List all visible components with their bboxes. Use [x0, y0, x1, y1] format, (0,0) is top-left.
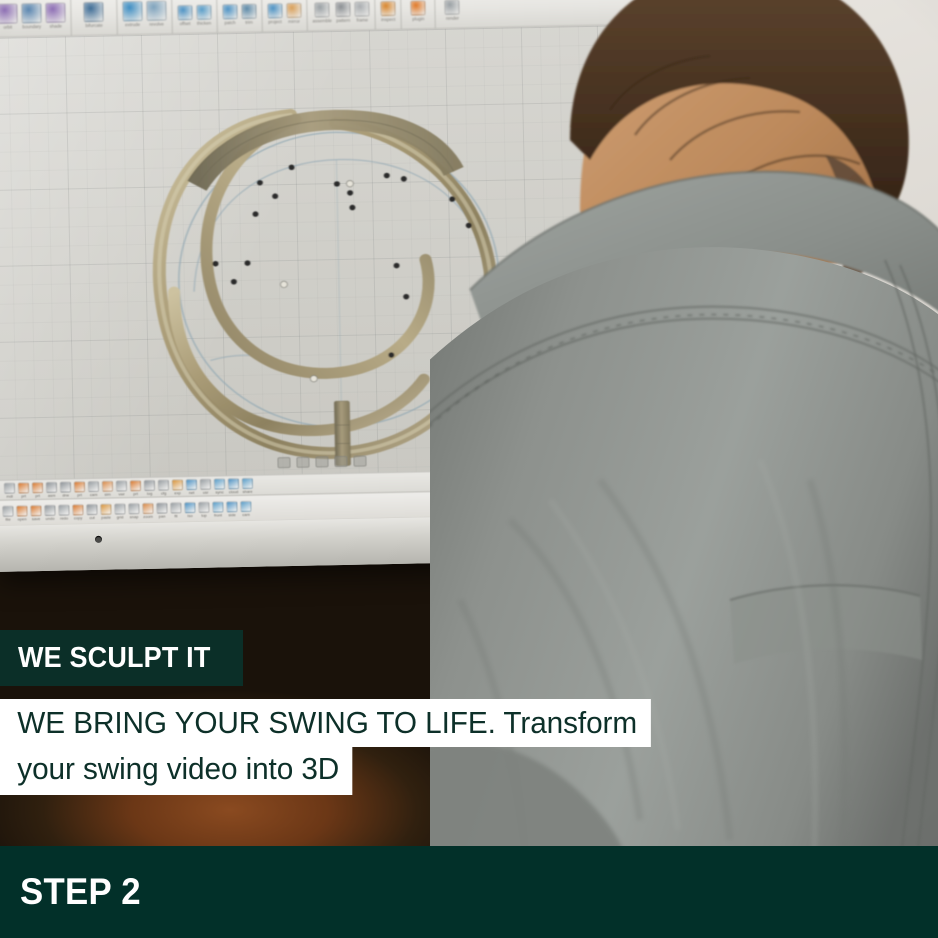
taskbar-item[interactable]: cloud — [228, 478, 239, 494]
person-at-workstation — [430, 0, 938, 938]
ribbon-button-label: bifurcate — [85, 23, 102, 28]
taskbar-item-label: prt — [133, 491, 138, 496]
doc-orange-icon — [74, 481, 85, 492]
ribbon-button-assemble[interactable]: assemble — [312, 2, 332, 23]
taskbar-item[interactable]: drw — [60, 481, 71, 497]
promo-screenshot: VIEWorbitboundaryshadeSUB ENGINEbifurcat… — [0, 0, 938, 938]
photo-scene: VIEWorbitboundaryshadeSUB ENGINEbifurcat… — [0, 0, 938, 938]
taskbar-item-label: file — [5, 516, 10, 521]
doc-icon — [128, 503, 139, 514]
plugin-icon — [411, 0, 426, 15]
taskbar-item-label: cloud — [229, 489, 239, 494]
doc-orange-icon — [16, 505, 27, 516]
taskbar-item-label: mdl — [6, 493, 13, 498]
we-sculpt-it-badge: WE SCULPT IT — [0, 630, 243, 686]
taskbar-item-label: prt — [35, 493, 40, 498]
taskbar-item[interactable]: cut — [86, 503, 97, 519]
ribbon-button-boundary[interactable]: boundary — [21, 3, 42, 29]
bounding-box-icon — [21, 3, 41, 23]
project-icon — [267, 3, 282, 18]
taskbar-item[interactable]: save — [30, 505, 41, 521]
ribbon-button-label: trim — [245, 20, 253, 25]
doc-orange-icon — [142, 502, 153, 513]
patch-icon — [222, 4, 237, 19]
taskbar-item-label: paste — [101, 514, 111, 519]
taskbar-item[interactable]: share — [242, 477, 253, 493]
taskbar-item-label: cfg — [161, 490, 166, 495]
ribbon-button-label: mirror — [288, 19, 300, 24]
offset-icon — [177, 5, 192, 20]
taskbar-item[interactable]: iso — [184, 501, 195, 517]
taskbar-item[interactable]: snap — [128, 503, 139, 519]
taskbar-item-label: drw — [62, 492, 69, 497]
thicken-icon — [196, 5, 211, 20]
taskbar-item[interactable]: cam — [88, 480, 99, 496]
taskbar-item[interactable]: vwr — [116, 480, 127, 496]
sphere-shaded-icon — [45, 2, 65, 22]
doc-orange-icon — [32, 481, 43, 492]
taskbar-item[interactable]: prt — [18, 482, 29, 498]
doc-blue-icon — [212, 501, 223, 512]
taskbar-item[interactable]: prt — [32, 481, 43, 497]
step-label: STEP 2 — [20, 871, 141, 913]
taskbar-item[interactable]: open — [16, 505, 27, 521]
ribbon-button-thicken[interactable]: thicken — [196, 5, 211, 26]
taskbar-item-label: snap — [130, 514, 139, 519]
taskbar-item-label: zoom — [143, 513, 153, 518]
ribbon-button-label: frame — [356, 17, 368, 22]
doc-orange-icon — [172, 479, 183, 490]
taskbar-item[interactable]: redo — [58, 504, 69, 520]
taskbar-item[interactable]: log — [144, 479, 155, 495]
ribbon-button-label: plugin — [412, 16, 424, 21]
ribbon-button-extrude[interactable]: extrude — [122, 1, 143, 27]
taskbar-item[interactable]: grid — [114, 503, 125, 519]
ribbon-button-shade[interactable]: shade — [45, 2, 66, 28]
ribbon-group: MODIFYpatchtrim — [217, 0, 263, 32]
doc-icon — [158, 479, 169, 490]
widget-icon[interactable] — [277, 457, 290, 468]
taskbar-item[interactable]: fit — [170, 502, 181, 518]
taskbar-item[interactable]: zoom — [142, 502, 153, 518]
taskbar-item[interactable]: net — [186, 478, 197, 494]
taskbar-item[interactable]: side — [226, 501, 237, 517]
doc-icon — [144, 479, 155, 490]
taskbar-item[interactable]: cam — [240, 500, 251, 516]
ribbon-button-pattern[interactable]: pattern — [335, 2, 350, 23]
doc-orange-icon — [100, 503, 111, 514]
ribbon-button-inspect[interactable]: inspect — [380, 1, 395, 22]
taskbar-item-label: fit — [174, 513, 177, 518]
ribbon-button-revolve[interactable]: revolve — [146, 0, 167, 26]
ribbon-group: REFINEoffsetthicken — [172, 0, 218, 33]
doc-blue-icon — [226, 501, 237, 512]
ribbon-button-label: patch — [224, 20, 235, 25]
ribbon-button-bifurcate[interactable]: bifurcate — [84, 2, 105, 28]
taskbar-item-label: usr — [203, 489, 209, 494]
taskbar-item-label: pan — [159, 513, 166, 518]
mirror-icon — [286, 3, 301, 18]
ribbon-group-title: VIEW — [24, 0, 39, 3]
ribbon-button-offset[interactable]: offset — [177, 5, 192, 26]
doc-icon — [2, 505, 13, 516]
ribbon-group: SUB ENGINEbifurcate — [71, 0, 118, 35]
doc-icon — [88, 480, 99, 491]
taskbar-item-label: prt — [21, 493, 26, 498]
taskbar-item-label: asm — [48, 492, 56, 497]
y-branch-icon — [84, 2, 104, 22]
taskbar-item[interactable]: asm — [46, 481, 57, 497]
inspect-icon — [380, 1, 395, 16]
viewport-widget-strip[interactable] — [277, 455, 366, 468]
doc-icon — [4, 482, 15, 493]
taskbar-item-label: undo — [46, 515, 55, 520]
ribbon-button-label: shade — [50, 24, 62, 29]
doc-icon — [44, 504, 55, 515]
taskbar-item[interactable]: cfg — [158, 479, 169, 495]
taskbar-item-label: cam — [90, 491, 98, 496]
taskbar-item-label: save — [32, 516, 41, 521]
taskbar-item[interactable]: undo — [44, 504, 55, 520]
ribbon-button-trim[interactable]: trim — [241, 4, 256, 25]
ribbon-button-frame[interactable]: frame — [354, 1, 369, 22]
taskbar-item[interactable]: sync — [214, 478, 225, 494]
taskbar-item-label: copy — [74, 515, 83, 520]
taskbar-item-label: prt — [77, 492, 82, 497]
ribbon-group: VIEWorbitboundaryshade — [0, 0, 72, 37]
doc-icon — [58, 504, 69, 515]
widget-icon[interactable] — [353, 455, 366, 466]
doc-blue-icon — [240, 500, 251, 511]
ribbon-button-orbit[interactable]: orbit — [0, 3, 18, 29]
taskbar-item-label: top — [201, 512, 207, 517]
ribbon-group: projectmirror — [262, 0, 308, 31]
taskbar-item[interactable]: paste — [100, 503, 111, 519]
widget-icon[interactable] — [296, 457, 309, 468]
taskbar-item-label: side — [228, 512, 235, 517]
ribbon-group: SURFACEextruderevolve — [117, 0, 173, 34]
doc-icon — [114, 503, 125, 514]
ribbon-button-mirror[interactable]: mirror — [286, 3, 301, 24]
ribbon-group: inspect — [375, 0, 402, 29]
doc-icon — [198, 501, 209, 512]
ribbon-button-plugin[interactable]: plugin — [411, 0, 426, 21]
taskbar-item[interactable]: prt — [130, 480, 141, 496]
ribbon-button-patch[interactable]: patch — [222, 4, 237, 25]
ribbon-button-label: extrude — [125, 22, 140, 27]
ribbon-button-project[interactable]: project — [267, 3, 282, 24]
taskbar-item-label: cam — [242, 511, 250, 516]
taskbar-item[interactable]: copy — [72, 504, 83, 520]
trim-icon — [241, 4, 256, 19]
widget-icon[interactable] — [315, 456, 328, 467]
taskbar-item[interactable]: mdl — [4, 482, 15, 498]
taskbar-item-label: vwr — [118, 491, 124, 496]
headline-block: WE BRING YOUR SWING TO LIFE. Transform y… — [0, 699, 720, 795]
widget-icon[interactable] — [334, 456, 347, 467]
taskbar-item-label: grid — [117, 514, 124, 519]
assembly-icon — [314, 2, 329, 17]
ribbon-button-label: project — [268, 19, 282, 24]
doc-blue-icon — [184, 501, 195, 512]
taskbar-item-label: share — [243, 488, 253, 493]
doc-icon — [116, 480, 127, 491]
doc-icon — [156, 502, 167, 513]
taskbar-item[interactable]: top — [198, 501, 209, 517]
ribbon-button-label: assemble — [312, 18, 331, 23]
ribbon-button-label: thicken — [197, 21, 211, 26]
ribbon-button-label: pattern — [336, 18, 350, 23]
headline-line-1: WE BRING YOUR SWING TO LIFE. Transform — [0, 699, 650, 747]
revolve-icon — [146, 0, 166, 20]
sphere-icon — [0, 3, 18, 23]
taskbar-item-label: iso — [187, 512, 192, 517]
taskbar-item[interactable]: front — [212, 501, 223, 517]
doc-blue-icon — [242, 477, 253, 488]
ribbon-button-label: boundary — [22, 24, 41, 29]
doc-icon — [60, 481, 71, 492]
taskbar-item[interactable]: usr — [200, 478, 211, 494]
doc-icon — [86, 503, 97, 514]
doc-icon — [170, 502, 181, 513]
doc-orange-icon — [18, 482, 29, 493]
taskbar-item[interactable]: pan — [156, 502, 167, 518]
ribbon-group: assemblepatternframe — [307, 0, 376, 31]
taskbar-item-label: net — [189, 489, 195, 494]
doc-icon — [46, 481, 57, 492]
taskbar-item-label: front — [214, 512, 222, 517]
taskbar-item-label: log — [147, 490, 152, 495]
doc-orange-icon — [130, 480, 141, 491]
badge-label: WE SCULPT IT — [18, 642, 211, 675]
doc-icon — [200, 478, 211, 489]
headline-line-2: your swing video into 3D — [0, 747, 353, 795]
ribbon-button-label: revolve — [149, 21, 164, 26]
ribbon-button-label: inspect — [381, 17, 395, 22]
doc-orange-icon — [102, 480, 113, 491]
doc-blue-icon — [214, 478, 225, 489]
monitor-power-led — [95, 536, 102, 543]
taskbar-item[interactable]: exp — [172, 479, 183, 495]
extrude-icon — [122, 1, 142, 21]
frame-icon — [354, 1, 369, 16]
taskbar-item[interactable]: prt — [74, 481, 85, 497]
doc-orange-icon — [30, 505, 41, 516]
taskbar-item-label: sync — [215, 489, 223, 494]
doc-blue-icon — [228, 478, 239, 489]
step-banner: STEP 2 — [0, 846, 938, 938]
taskbar-item-label: cut — [89, 514, 94, 519]
doc-blue-icon — [186, 478, 197, 489]
pattern-grid-icon — [335, 2, 350, 17]
taskbar-item-label: sim — [104, 491, 110, 496]
taskbar-item-label: open — [18, 516, 27, 521]
doc-orange-icon — [72, 504, 83, 515]
taskbar-item-label: exp — [174, 490, 181, 495]
ribbon-button-label: offset — [179, 21, 190, 26]
ribbon-button-label: orbit — [3, 25, 12, 30]
taskbar-item[interactable]: file — [2, 505, 13, 521]
taskbar-item[interactable]: sim — [102, 480, 113, 496]
taskbar-item-label: redo — [60, 515, 68, 520]
